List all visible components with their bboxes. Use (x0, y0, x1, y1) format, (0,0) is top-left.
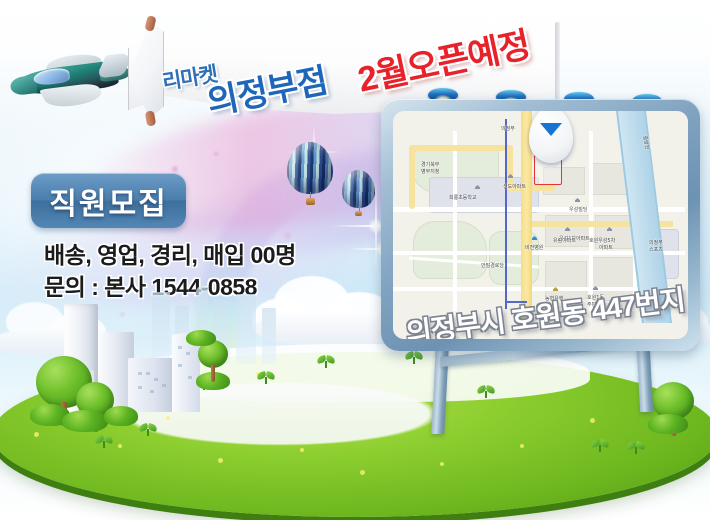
poster-canvas: 리마켓 의정부점 2월오픈예정 직원모집 배송, 영업, 경리, 매입 00명 … (0, 0, 710, 520)
lawn-dot (520, 444, 524, 448)
lawn-dot (34, 432, 39, 437)
billboard: 의정부 경기북부 병무지청 회룡초등학교 신도아파트 우성빌딩 우성1차아파트 … (381, 99, 700, 351)
lawn-dot (590, 418, 595, 423)
map-road (453, 131, 457, 311)
map-label: 아파트 (599, 244, 613, 251)
distant-building (152, 292, 170, 364)
lawn-dot (300, 448, 304, 452)
hot-air-balloon-large (287, 142, 333, 200)
lawn-dot (166, 416, 170, 420)
hiring-positions-text: 배송, 영업, 경리, 매입 00명 (44, 236, 296, 270)
leaf-sprout-icon (592, 440, 608, 452)
leaf-sprout-icon (406, 352, 422, 364)
distant-building (262, 308, 276, 364)
leaf-sprout-icon (478, 386, 494, 398)
map-label: 우성빌딩 (569, 206, 587, 213)
hiring-badge: 직원모집 (31, 173, 186, 228)
building-window (150, 390, 154, 393)
map-road-secondary (409, 147, 415, 209)
map-poi-icon (575, 198, 580, 202)
map-label: 비전병원 (525, 244, 543, 251)
airplane-icon (4, 37, 134, 121)
bush (62, 410, 108, 432)
city-building (128, 358, 176, 412)
hiring-contact-text: 문의 : 본사 1544-0858 (44, 268, 257, 302)
map-pin-icon[interactable] (529, 111, 573, 163)
bush (104, 406, 138, 426)
sky-dot (214, 152, 218, 156)
map-label: 유림아파트 (553, 237, 576, 244)
lawn-dot (440, 462, 444, 466)
bush (186, 330, 216, 346)
distant-building (236, 294, 256, 364)
hot-air-balloon-small (342, 170, 375, 214)
building-window (154, 378, 158, 381)
billboard-screen[interactable]: 의정부 경기북부 병무지청 회룡초등학교 신도아파트 우성빌딩 우성1차아파트 … (393, 111, 688, 339)
map-label: 호원우성5차 (589, 237, 615, 244)
building-window (146, 372, 150, 375)
map-label: 의정부 (649, 239, 663, 246)
map-label: 신도아파트 (503, 183, 526, 190)
building-window (138, 372, 142, 375)
map-transit-line (505, 119, 507, 309)
lawn-dot (118, 444, 122, 448)
location-map[interactable]: 의정부 경기북부 병무지청 회룡초등학교 신도아파트 우성빌딩 우성1차아파트 … (393, 111, 688, 339)
lawn-dot (218, 458, 223, 463)
lawn-dot (360, 470, 365, 475)
map-label: 안말경로당 (481, 262, 504, 269)
map-label: 병무지청 (421, 168, 439, 175)
building-window (162, 384, 166, 387)
leaf-sprout-icon (318, 356, 334, 368)
bush (648, 414, 688, 434)
building-window (178, 346, 182, 349)
building-window (188, 376, 192, 379)
building-window (138, 386, 142, 389)
leaf-sprout-icon (628, 442, 644, 454)
tree (198, 340, 228, 382)
leaf-sprout-icon (96, 436, 112, 448)
map-label: 의정부 (501, 125, 515, 132)
map-label: 회룡초등학교 (449, 194, 477, 201)
map-road-secondary (409, 145, 513, 151)
sky-dot (172, 166, 178, 172)
map-label: 스포츠 (649, 246, 663, 253)
map-label: 경기북부 (421, 161, 439, 168)
sky-dot (120, 312, 125, 317)
building-window (186, 352, 190, 355)
hiring-badge-label: 직원모집 (49, 179, 167, 223)
leaf-sprout-icon (140, 424, 156, 436)
map-block (413, 221, 487, 279)
leaf-sprout-icon (258, 372, 274, 384)
building-window (178, 364, 182, 367)
